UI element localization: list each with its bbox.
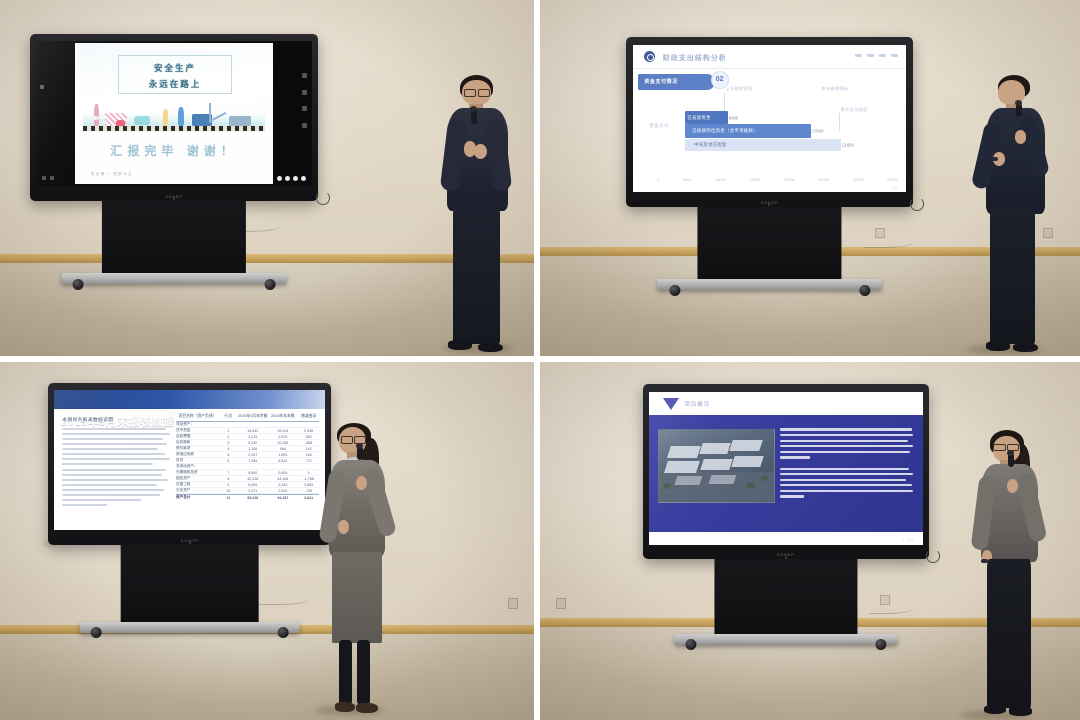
bl-icon-home[interactable] [50,176,54,180]
table-cell: 42,318 [238,477,268,481]
table-row: 资产总计1198,02894,1873,841 [176,494,319,500]
table-cell: 资产总计 [176,495,219,500]
caster-left [90,627,101,638]
caster-right [859,285,870,296]
table-body: 流动资产：货币资金118,64216,1042,538应收票据23,2152,8… [176,422,319,500]
table-cell: 18,642 [238,429,268,433]
table-cell: 1,893 [268,453,298,457]
flat-panel-display[interactable]: 财政支出结构分析 资金支付情况 02 [626,37,912,206]
bl-icon-back[interactable] [42,176,46,180]
flat-panel-display[interactable]: 安全生产 永远在路上 [30,34,318,201]
photo-collage: 安全生产 永远在路上 [0,0,1080,720]
bar-1-value: 6400 [729,115,738,120]
table-col-header-2: 2019年9月末余额 [238,414,268,419]
slide-header: 财政支出结构分析 [633,45,907,70]
report-table: 项目名称（资产负债） 行次 2019年9月末余额 2018年年末数 增减变动 流… [176,414,319,526]
handheld-microphone [1016,103,1022,117]
table-cell: 应收票据 [176,434,219,439]
table-cell: 存货 [176,458,219,463]
table-cell: 9 [219,483,238,487]
slide-header: 项目概况 [649,392,923,415]
table-cell: 2,610 [268,489,298,493]
display-unit-4: 项目概况 [643,384,929,642]
presenter-male-suit [417,75,534,353]
rail-icon-pen[interactable] [302,73,307,78]
slide-paragraph-1 [780,428,914,458]
xtick-1: 5000 [683,177,692,182]
slide-text-body [780,425,914,524]
slide-footer-text: 汇报完毕 谢谢！ [75,142,273,159]
flat-panel-display[interactable]: 项目概况 [643,384,929,559]
chart-bar-3: 中央及地方配套 21600 [685,139,841,151]
bar-2-label: 已核拨到位资金（含专项拨款） [692,128,758,134]
slide-title-line1: 安全生产 [119,62,230,74]
display-screen[interactable]: 项目概况 [649,392,923,545]
flat-panel-display[interactable]: 2019年9月末报表数据 单位：万元 本期财务报表数据说明 [48,383,331,545]
bar-1-label: 已发放资金 [687,115,710,121]
chart-annotation-1: 上年结转资金 [726,86,753,92]
presenter-clicker [991,157,998,161]
presenter-male-navy-suit [950,75,1069,353]
company-logo-icon [644,51,655,62]
screen-left-icon[interactable] [40,85,44,89]
power-led [785,557,787,559]
xtick-5: 25000 [818,177,829,182]
table-cell: 964 [268,447,298,451]
display-unit-1: 安全生产 永远在路上 [30,34,318,283]
slide-content-band [649,415,923,532]
report-notes-heading: 本期财务报表数据说明 [62,417,170,423]
table-cell: 98,028 [238,496,268,500]
chart-annotation-3: 累计支付进度 [841,107,868,113]
caster-right [278,627,289,638]
table-cell: 8 [219,477,238,481]
rail-icon-shape[interactable] [302,106,307,111]
slide-brand-text: 财政支出结构分析 [663,53,727,63]
table-cell: 3 [219,441,238,445]
slide-report-data: 2019年9月末报表数据 单位：万元 本期财务报表数据说明 [54,390,325,530]
handheld-microphone [357,446,363,460]
table-cell: 2,471 [238,489,268,493]
table-cell: 2 [219,435,238,439]
display-screen[interactable]: 2019年9月末报表数据 单位：万元 本期财务报表数据说明 [54,390,325,530]
slide-footer-strip [649,532,923,545]
slide-header-title: 项目概况 [684,400,710,408]
table-cell: 44,106 [268,477,298,481]
nav-dash-3 [879,54,886,57]
table-cell: 1,106 [238,447,268,451]
table-col-header-1: 行次 [219,414,238,419]
table-cell: 7 [219,471,238,475]
table-cell: 94,187 [268,496,298,500]
xtick-7: 35000 [887,177,898,182]
chart-x-axis: 0 5000 10000 15000 20000 25000 30000 350… [657,177,898,182]
slide-paragraph-2 [780,468,914,498]
caster-left [73,279,84,290]
table-cell: 3,240 [268,483,298,487]
screen-bottom-left-icons[interactable] [42,176,54,180]
xtick-0: 0 [657,177,659,182]
table-cell: 5 [219,453,238,457]
rail-icon-eraser[interactable] [302,90,307,95]
collage-panel-2: 财政支出结构分析 资金支付情况 02 [540,0,1080,356]
presenter-female-dark-blazer [950,430,1063,716]
xtick-6: 30000 [853,177,864,182]
slide-title-line2: 永远在路上 [119,78,230,90]
slide-page-number: / 21 [903,537,914,542]
table-cell: 7,284 [238,459,268,463]
slide-title-bar [54,390,325,409]
cable-hook [316,191,330,205]
caster-right [264,279,275,290]
caster-left [669,285,680,296]
floor [0,634,534,720]
table-cell: 11 [219,496,238,500]
collage-panel-3: 2019年9月末报表数据 单位：万元 本期财务报表数据说明 [0,362,534,720]
safety-illustration [83,102,266,130]
table-cell: 6,905 [238,483,268,487]
display-screen[interactable]: 安全生产 永远在路上 [36,41,312,185]
table-cell: 非流动资产： [176,464,219,469]
table-cell: 6,512 [268,459,298,463]
slide-safety-production: 安全生产 永远在路上 [36,41,312,185]
table-cell: 3,215 [238,435,268,439]
nav-dash-4 [891,54,898,57]
report-notes-block: 本期财务报表数据说明 [62,417,170,525]
stand-pedestal [102,201,246,276]
slide-page-number: / 16 [887,185,898,190]
table-cell: 5,600 [268,471,298,475]
nav-dash-1 [855,54,862,57]
table-cell: 2,057 [238,453,268,457]
table-cell: 固定资产 [176,476,219,481]
chart-bar-1: 已发放资金 6400 [685,111,729,125]
facility-aerial-photo [658,429,775,504]
table-cell: 预付款项 [176,446,219,451]
bar-3-value: 21600 [842,143,854,148]
collage-panel-1: 安全生产 永远在路上 [0,0,534,356]
screen-toolbar-dots[interactable] [277,176,306,181]
table-cell: 流动资产： [176,422,219,427]
stand-pedestal [698,207,841,282]
handheld-microphone [471,109,477,124]
table-cell: 1 [219,429,238,433]
table-col-header-4: 增减变动 [298,414,320,419]
table-cell: 无形资产 [176,488,219,493]
slide-title-box: 安全生产 永远在路上 [118,55,231,94]
nav-dash-2 [867,54,874,57]
table-cell: 9,430 [238,441,268,445]
stand-base [62,273,287,284]
table-cell: 6 [219,459,238,463]
chart-bar-2: 已核拨到位资金（含专项拨款） 17600 [685,124,811,138]
table-cell: 在建工程 [176,482,219,487]
bar-chart-plot: 资金支付 上年结转资金 本年新增指标 累计支付进度 已发放资金 6400 [633,85,907,172]
wall-outlet [556,598,566,609]
stand-base [658,279,881,290]
toolbar-dot-3[interactable] [293,176,298,181]
table-cell: 2,870 [268,435,298,439]
handheld-microphone [1008,453,1014,467]
wall-outlet [508,598,518,609]
display-screen[interactable]: 财政支出结构分析 资金支付情况 02 [633,45,907,192]
bar-3-label: 中央及地方配套 [694,142,727,148]
slide-header-nav [855,54,898,57]
stand-base [674,634,897,645]
toolbar-dot-2[interactable] [285,176,290,181]
display-unit-3: 2019年9月末报表数据 单位：万元 本期财务报表数据说明 [48,383,331,641]
table-cell: 5,600 [238,471,268,475]
stand-pedestal [714,559,857,636]
table-cell: 10,288 [268,441,298,445]
triangle-logo-icon [663,398,679,410]
table-col-header-0: 项目名称（资产负债） [176,414,219,419]
collage-panel-4: 项目概况 [540,362,1080,720]
screen-tool-rail[interactable] [300,67,309,133]
table-cell: 应收账款 [176,440,219,445]
table-cell: 10 [219,489,238,493]
table-col-header-3: 2018年年末数 [268,414,298,419]
xtick-4: 20000 [784,177,795,182]
cable-hook [910,197,924,211]
slide-facility-overview: 项目概况 [649,392,923,545]
caster-right [875,639,886,650]
xtick-2: 10000 [715,177,726,182]
stand-pedestal [120,545,259,625]
stand-base [79,622,300,633]
table-cell: 16,104 [268,429,298,433]
table-cell: 其他应收款 [176,452,219,457]
bar-2-value: 17600 [812,129,824,134]
presenter-female-grey-suit [299,423,411,717]
chart-ylabel: 资金支付 [649,123,669,129]
display-unit-2: 财政支出结构分析 资金支付情况 02 [626,37,912,286]
table-cell: 长期股权投资 [176,470,219,475]
toolbar-dot-4[interactable] [301,176,306,181]
table-header-row: 项目名称（资产负债） 行次 2019年9月末余额 2018年年末数 增减变动 [176,414,319,422]
slide-funding-chart: 财政支出结构分析 资金支付情况 02 [633,45,907,192]
table-cell: 4 [219,447,238,451]
chart-annotation-2: 本年新增指标 [821,86,848,92]
slide-signature: 安全第一 预防为主 [91,172,133,177]
rail-icon-menu[interactable] [302,123,307,128]
table-cell: 货币资金 [176,428,219,433]
toolbar-dot-1[interactable] [277,176,282,181]
xtick-3: 15000 [749,177,760,182]
